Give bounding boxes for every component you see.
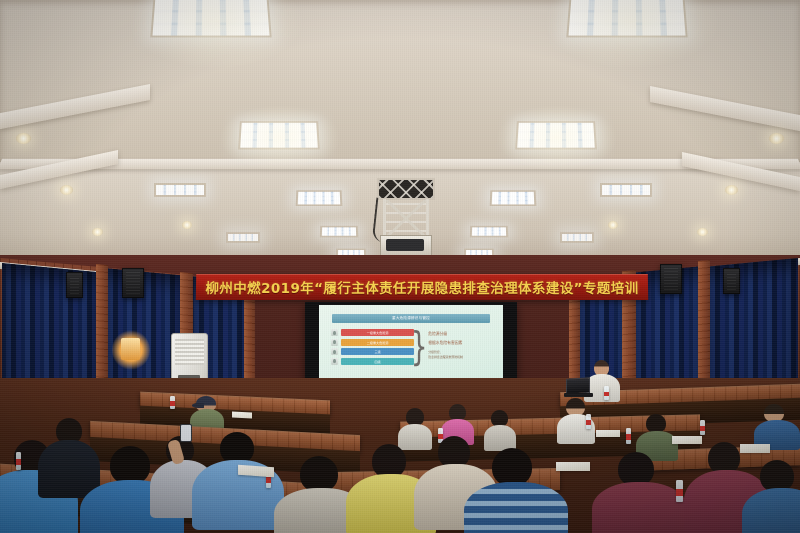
slide-chip-row: 三级 [331,348,414,355]
wall-speaker-left-2 [66,272,83,298]
downlight-6 [725,185,738,195]
projector-lens-body [386,239,424,251]
downlight-1 [16,133,31,144]
slide-chip-column: 一级重大危险源 二级重大危险源 三级 [331,329,414,367]
audience-torso [398,424,432,450]
slide-chip-3: 三级 [341,348,414,355]
downlight-5 [769,133,784,144]
cap-brim-icon [192,403,204,408]
slide-body: 一级重大危险源 二级重大危险源 三级 [326,329,496,367]
slide-chip-row: 二级重大危险源 [331,339,414,346]
slide-right-small-2: 隐患排查治理双重预防机制 [428,355,491,359]
slide-chip-row: 一级重大危险源 [331,329,414,336]
paper-on-desk [596,430,620,437]
audience-torso [592,482,688,533]
slide-title-text: 重大危险源辨识与管控 [392,316,430,321]
water-bottle [170,396,175,409]
water-bottle [16,452,21,470]
water-bottle [676,480,683,502]
slide-right-small-1: 分级管控、 [428,350,491,354]
ceiling-light-strip-right [600,183,652,197]
wall-sconce [121,338,140,360]
slide-brace-icon: } [414,319,424,377]
paper-on-desk [556,462,590,471]
person-icon [331,339,338,346]
wall-speaker-right-2 [723,268,740,294]
photo-scene: 柳州中燃2019年“履行主体责任开展隐患排查治理体系建设”专题培训 重大危险源辨… [0,0,800,533]
water-bottle [604,386,609,400]
slide-title-bar: 重大危险源辨识与管控 [332,314,490,323]
slide-chip-label: 三级 [375,349,381,354]
downlight-7 [697,228,708,236]
air-conditioner-grille [175,339,204,365]
audience-head [492,448,532,486]
slide-right-line-2: 根据水危险有害因素 [428,340,491,346]
wall-speaker-left-1 [122,268,144,298]
event-banner: 柳州中燃2019年“履行主体责任开展隐患排查治理体系建设”专题培训 [196,274,648,300]
ceiling-light-panel-small-7 [226,232,260,243]
ceiling-light-panel-small-3 [320,226,358,237]
ceiling-light-panel-small-2 [490,190,537,206]
audience-torso-striped [464,482,568,533]
downlight-2 [60,185,73,195]
paper-on-desk [232,411,252,418]
ceiling-light-panel-large-right [566,0,687,37]
slide-right-line-1: 危险源分级 [428,331,491,337]
audience-head [372,444,406,478]
person-icon [331,358,338,365]
phone-icon[interactable] [180,424,192,442]
slide-chip-2: 二级重大危险源 [341,339,414,346]
ceiling-light-panel-small-1 [296,190,343,206]
ceiling-beam-main [0,159,800,169]
person-icon [331,329,338,336]
ceiling [0,0,800,272]
water-bottle [626,428,631,444]
ceiling-light-panel-small-8 [560,232,594,243]
audience-head [618,452,654,486]
downlight-3 [92,228,103,236]
slide-chip-label: 四级 [375,359,381,364]
slide-text-column: 危险源分级 根据水危险有害因素 分级管控、 隐患排查治理双重预防机制 [424,329,491,367]
audience-head [110,446,150,484]
ceiling-light-panel-medium-right [515,121,597,149]
ceiling-light-panel-large-left [150,0,271,37]
water-bottle [586,414,591,429]
audience-head [300,456,338,492]
ceiling-light-panel-small-4 [470,226,508,237]
ceiling-light-strip-left [154,183,206,197]
presenter-laptop-base[interactable] [564,393,593,397]
slide-chip-1: 一级重大危险源 [341,329,414,336]
audience-torso [38,440,100,498]
wall-speaker-right-1 [660,264,682,294]
slide-chip-label: 二级重大危险源 [367,340,389,345]
water-bottle [700,420,705,435]
projector-lift-scissor [386,200,426,238]
projector-lift-cavity [377,178,435,200]
paper-on-desk [672,436,702,444]
paper-on-desk [740,444,770,453]
ceiling-light-panel-medium-left [238,121,320,149]
slide-chip-row: 四级 [331,358,414,365]
downlight-8 [608,221,618,229]
slide-chip-4: 四级 [341,358,414,365]
downlight-4 [182,221,192,229]
event-banner-text: 柳州中燃2019年“履行主体责任开展隐患排查治理体系建设”专题培训 [205,277,638,297]
slide-chip-label: 一级重大危险源 [367,330,389,335]
person-icon [331,348,338,355]
